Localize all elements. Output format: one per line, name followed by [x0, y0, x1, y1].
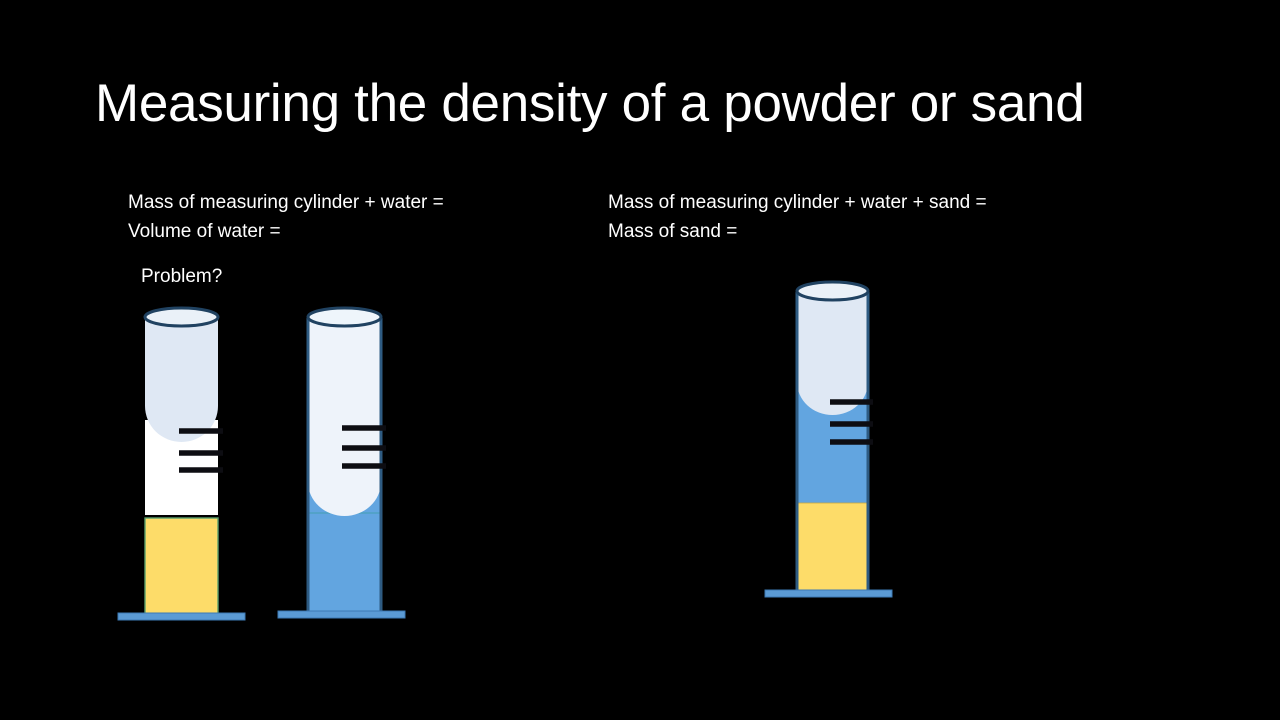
left-text-line-1: Mass of measuring cylinder + water = [128, 188, 444, 217]
base-stand-bar [118, 613, 245, 620]
left-text-line-2: Volume of water = [128, 217, 444, 246]
empty-glass-region [308, 318, 381, 516]
cylinder-rim [308, 308, 381, 326]
slide-canvas: Measuring the density of a powder or san… [0, 0, 1280, 720]
page-title: Measuring the density of a powder or san… [95, 68, 1185, 140]
left-text-block: Mass of measuring cylinder + water = Vol… [128, 188, 444, 246]
right-text-block: Mass of measuring cylinder + water + san… [608, 188, 987, 246]
sand-region [797, 503, 868, 592]
right-text-line-2: Mass of sand = [608, 217, 987, 246]
base-stand-bar [278, 611, 405, 618]
cylinder-water-only [268, 300, 418, 630]
sand-region [145, 518, 218, 614]
base-stand-bar [765, 590, 892, 597]
right-text-line-1: Mass of measuring cylinder + water + san… [608, 188, 987, 217]
problem-note: Problem? [141, 264, 222, 290]
cylinder-rim [145, 308, 218, 326]
cylinder-water-and-sand [755, 275, 915, 605]
empty-glass-region [145, 318, 218, 442]
empty-glass-region [797, 292, 868, 415]
cylinder-rim [797, 282, 868, 300]
cylinder-dry-sand [105, 300, 255, 630]
